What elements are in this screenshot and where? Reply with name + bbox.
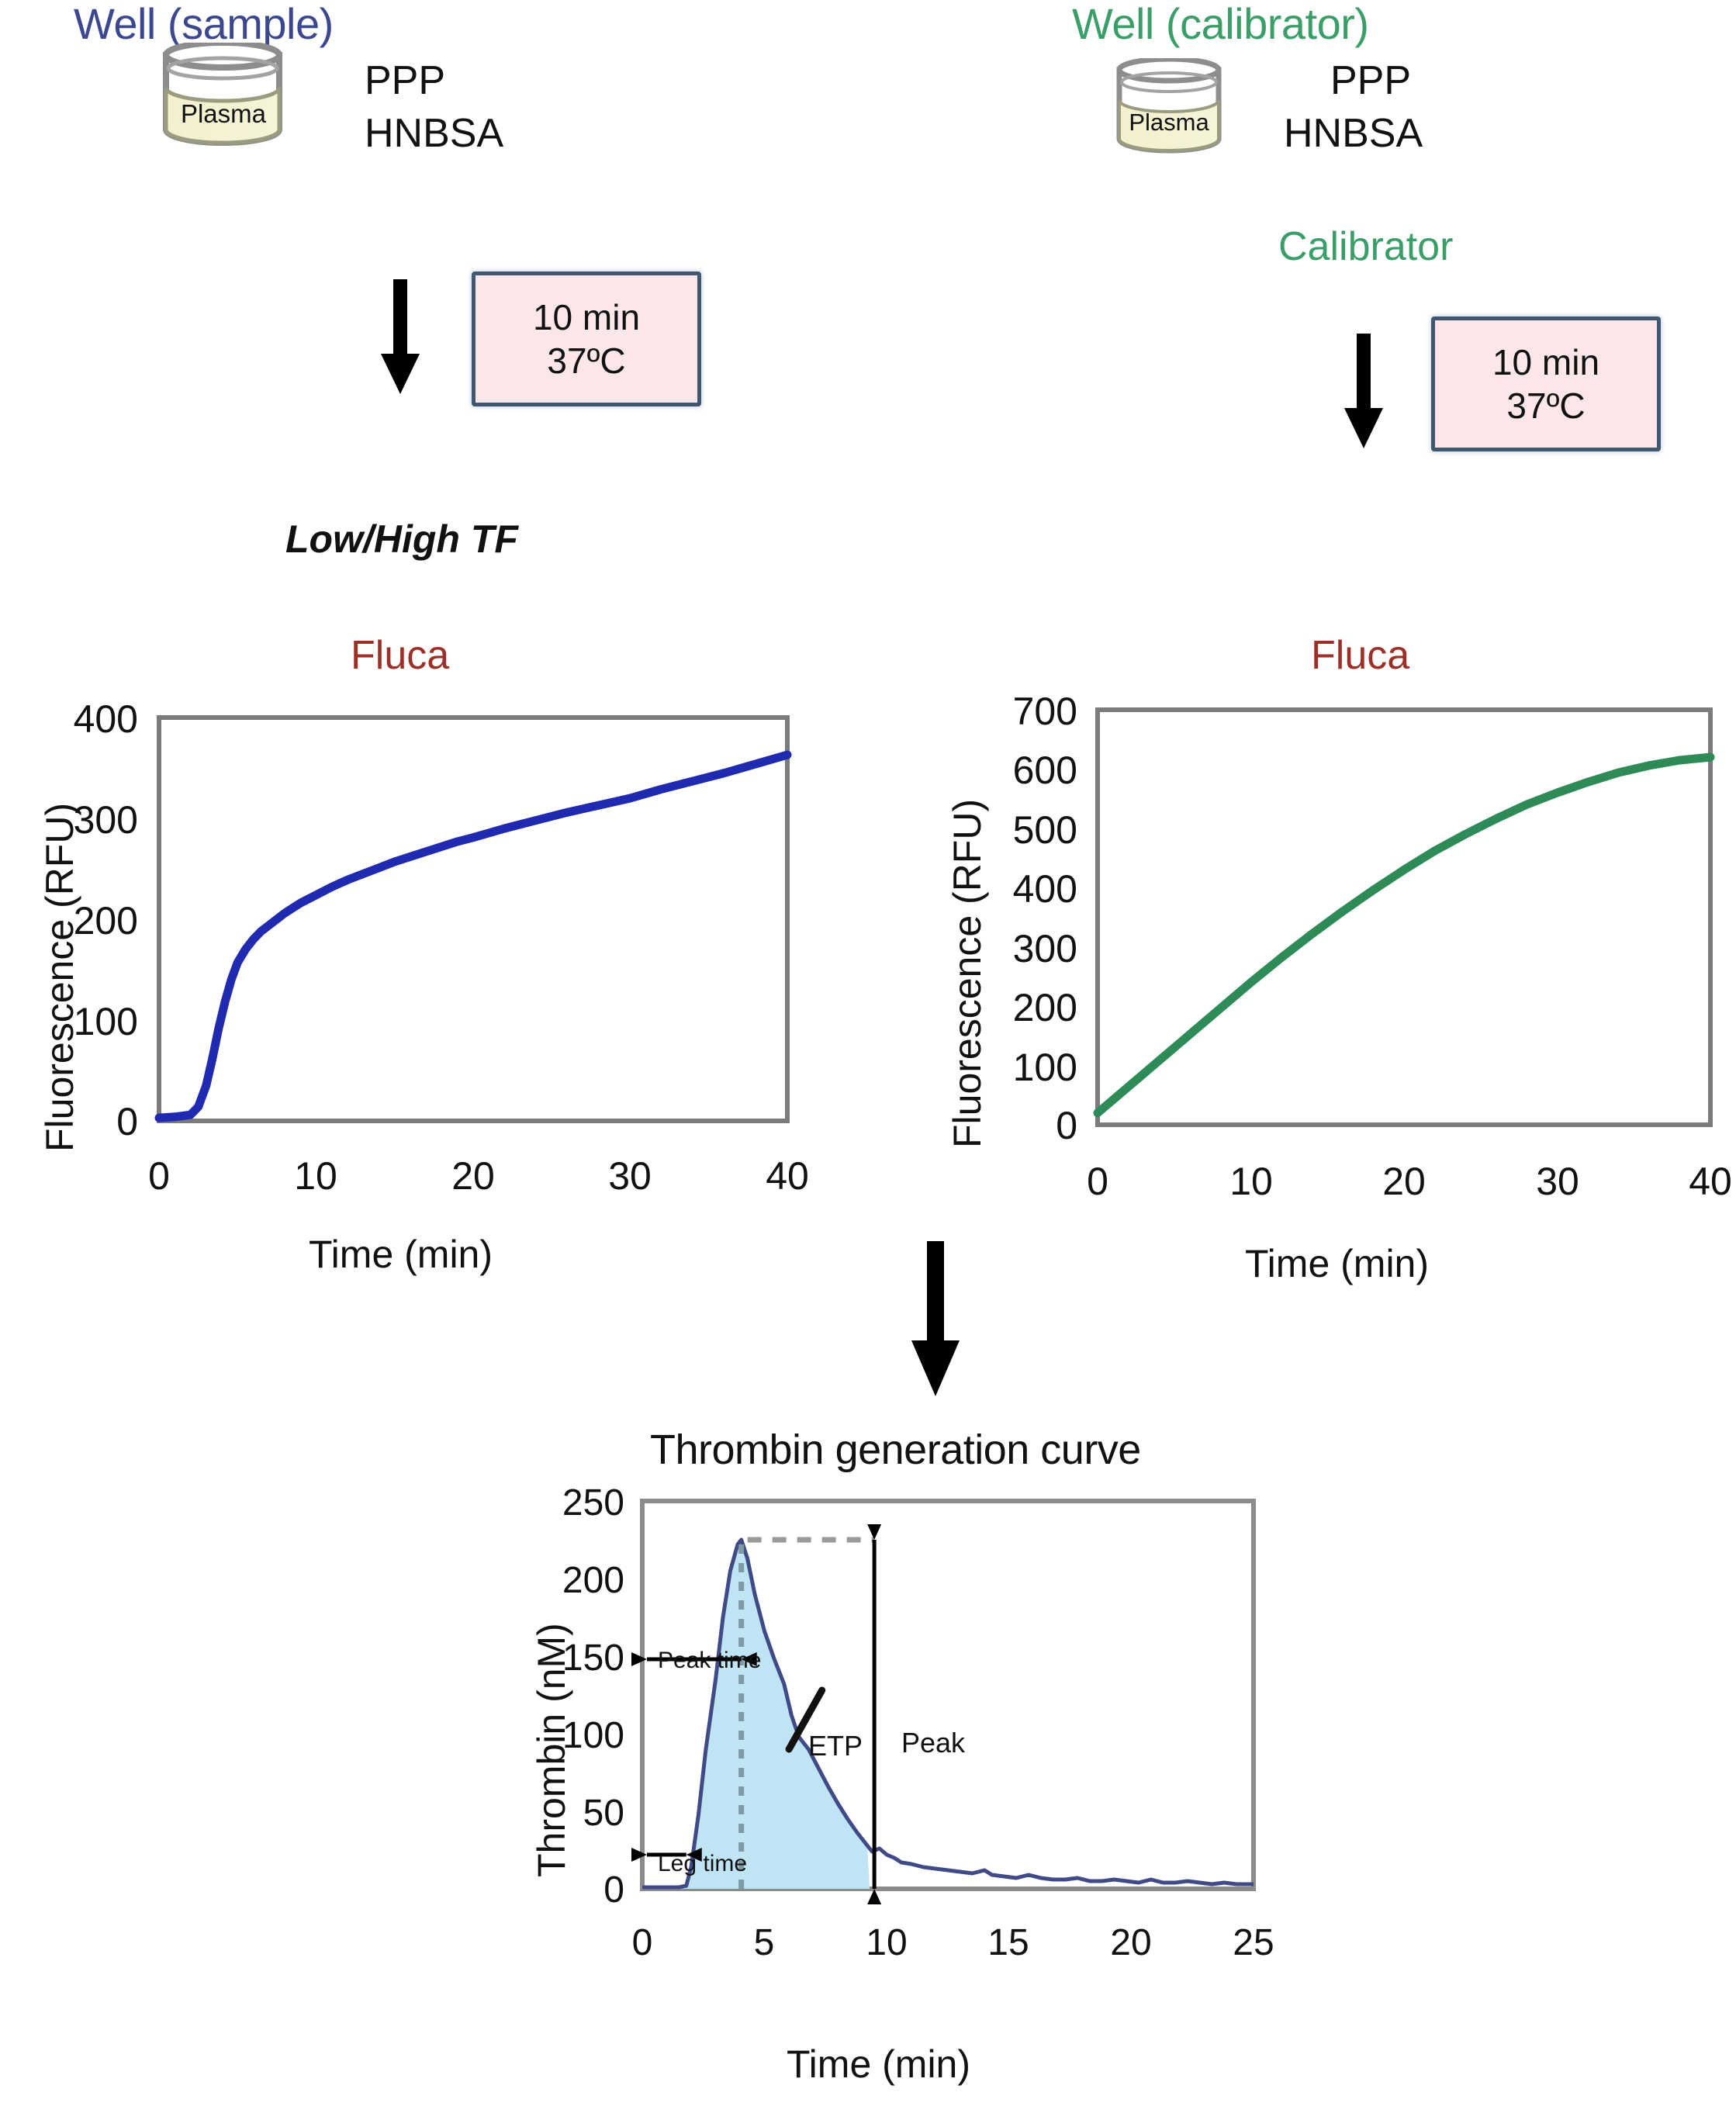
svg-text:0: 0 (1087, 1160, 1108, 1203)
thrombin-y-axis-title: Thrombin (nM) (529, 1623, 574, 1877)
svg-text:0: 0 (148, 1154, 170, 1198)
sample-x-axis-title: Time (min) (309, 1232, 493, 1277)
thrombin-chart-title: Thrombin generation curve (650, 1426, 1141, 1474)
calibrator-reagent-ppp: PPP (1330, 57, 1411, 104)
calibrator-incubation-arrow-icon (1336, 334, 1392, 448)
svg-text:400: 400 (74, 698, 138, 741)
sample-substrate-label: Fluca (351, 632, 449, 679)
svg-text:10: 10 (294, 1154, 337, 1198)
thrombin-peak-time-label: Peak time (658, 1648, 761, 1673)
calibrator-x-axis-title: Time (min) (1245, 1241, 1429, 1286)
svg-text:20: 20 (1110, 1922, 1151, 1963)
svg-text:300: 300 (1013, 927, 1077, 970)
svg-text:30: 30 (608, 1154, 652, 1198)
svg-text:20: 20 (451, 1154, 495, 1198)
svg-text:200: 200 (74, 899, 138, 942)
svg-text:250: 250 (562, 1485, 624, 1523)
sample-well-icon (155, 43, 291, 147)
svg-text:100: 100 (74, 1000, 138, 1043)
sample-trigger-label: Low/High TF (285, 517, 518, 562)
svg-text:30: 30 (1536, 1160, 1579, 1203)
sample-well-label: Plasma (165, 99, 282, 129)
svg-text:40: 40 (1689, 1160, 1732, 1203)
thrombin-peak-label: Peak (901, 1728, 965, 1758)
sample-incubation-box: 10 min 37ºC (472, 271, 701, 406)
svg-text:5: 5 (754, 1922, 775, 1963)
sample-incubation-time: 10 min (533, 296, 640, 339)
thrombin-x-axis-title: Time (min) (787, 2042, 970, 2087)
calibrator-reagent-hnbsa: HNBSA (1284, 110, 1423, 157)
sample-incubation-arrow-icon (372, 279, 428, 394)
thrombin-lag-time-label: Leg time (658, 1852, 747, 1876)
sample-incubation-temp: 37ºC (547, 339, 625, 382)
svg-text:200: 200 (562, 1560, 624, 1601)
svg-text:10: 10 (866, 1922, 907, 1963)
svg-text:50: 50 (583, 1793, 624, 1834)
svg-text:0: 0 (116, 1100, 138, 1143)
svg-text:100: 100 (1013, 1046, 1077, 1089)
svg-text:20: 20 (1382, 1160, 1426, 1203)
combine-arrow-icon (901, 1241, 971, 1396)
svg-text:0: 0 (603, 1869, 624, 1911)
svg-text:0: 0 (632, 1922, 653, 1963)
calibrator-incubation-box: 10 min 37ºC (1431, 316, 1661, 451)
calibrator-incubation-time: 10 min (1492, 341, 1599, 384)
calibrator-reagent-calibrator: Calibrator (1278, 223, 1453, 270)
calibrator-panel-title: Well (calibrator) (1072, 0, 1369, 49)
peak-time-line1: Peak time (658, 1648, 761, 1673)
sample-y-axis-title: Fluorescence (RFU) (37, 803, 82, 1152)
calibrator-y-axis-title: Fluorescence (RFU) (945, 799, 990, 1148)
svg-text:10: 10 (1229, 1160, 1273, 1203)
svg-text:40: 40 (766, 1154, 809, 1198)
sample-fluorescence-chart: 400 300 200 100 0 0 10 20 30 40 (0, 698, 822, 1241)
calibrator-well-icon (1109, 58, 1229, 155)
sample-reagent-ppp: PPP (365, 57, 445, 104)
svg-text:500: 500 (1013, 808, 1077, 852)
calibrator-well-label: Plasma (1115, 109, 1223, 137)
svg-text:700: 700 (1013, 694, 1077, 733)
svg-text:15: 15 (987, 1922, 1029, 1963)
svg-text:600: 600 (1013, 749, 1077, 792)
calibrator-substrate-label: Fluca (1311, 632, 1409, 679)
svg-text:300: 300 (74, 798, 138, 842)
sample-panel-title: Well (sample) (74, 0, 334, 49)
sample-reagent-hnbsa: HNBSA (365, 110, 503, 157)
svg-text:0: 0 (1056, 1104, 1077, 1147)
svg-text:400: 400 (1013, 867, 1077, 911)
svg-text:200: 200 (1013, 986, 1077, 1029)
svg-text:25: 25 (1233, 1922, 1274, 1963)
lag-time-line1: Leg time (658, 1851, 747, 1876)
calibrator-fluorescence-chart: 700 600 500 400 300 200 100 0 0 10 20 30… (904, 694, 1736, 1237)
thrombin-etp-label: ETP (808, 1731, 863, 1761)
calibrator-incubation-temp: 37ºC (1506, 384, 1585, 427)
